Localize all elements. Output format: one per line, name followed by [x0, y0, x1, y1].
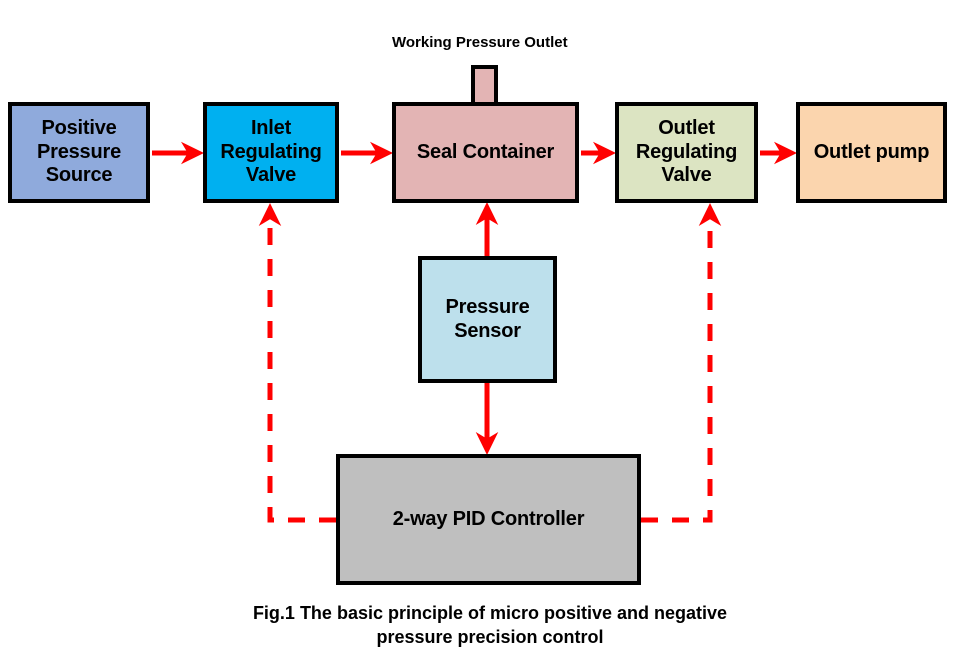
figure-caption: Fig.1 The basic principle of micro posit… — [176, 601, 804, 650]
node-label: Seal Container — [396, 141, 575, 165]
node-label: Inlet Regulating Valve — [207, 117, 335, 188]
node-label: Pressure Sensor — [422, 296, 553, 343]
node-pid-controller[interactable]: 2-way PID Controller — [336, 454, 641, 585]
node-label: Positive Pressure Source — [12, 117, 146, 188]
node-label: Outlet pump — [800, 141, 943, 165]
node-inlet-regulating-valve[interactable]: Inlet Regulating Valve — [203, 102, 339, 203]
working-pressure-outlet-label: Working Pressure Outlet — [392, 34, 568, 51]
node-outlet-regulating-valve[interactable]: Outlet Regulating Valve — [615, 102, 758, 203]
node-pressure-sensor[interactable]: Pressure Sensor — [418, 256, 557, 383]
figure-canvas: Positive Pressure Source Inlet Regulatin… — [0, 0, 955, 669]
edge-pid-controller-to-outlet-valve — [641, 208, 710, 520]
node-positive-pressure-source[interactable]: Positive Pressure Source — [8, 102, 150, 203]
node-label: 2-way PID Controller — [340, 508, 637, 532]
edge-pid-controller-to-inlet-valve — [270, 208, 336, 520]
node-label: Outlet Regulating Valve — [619, 117, 754, 188]
node-seal-container[interactable]: Seal Container — [392, 102, 579, 203]
working-pressure-outlet-stub — [471, 65, 498, 105]
node-outlet-pump[interactable]: Outlet pump — [796, 102, 947, 203]
